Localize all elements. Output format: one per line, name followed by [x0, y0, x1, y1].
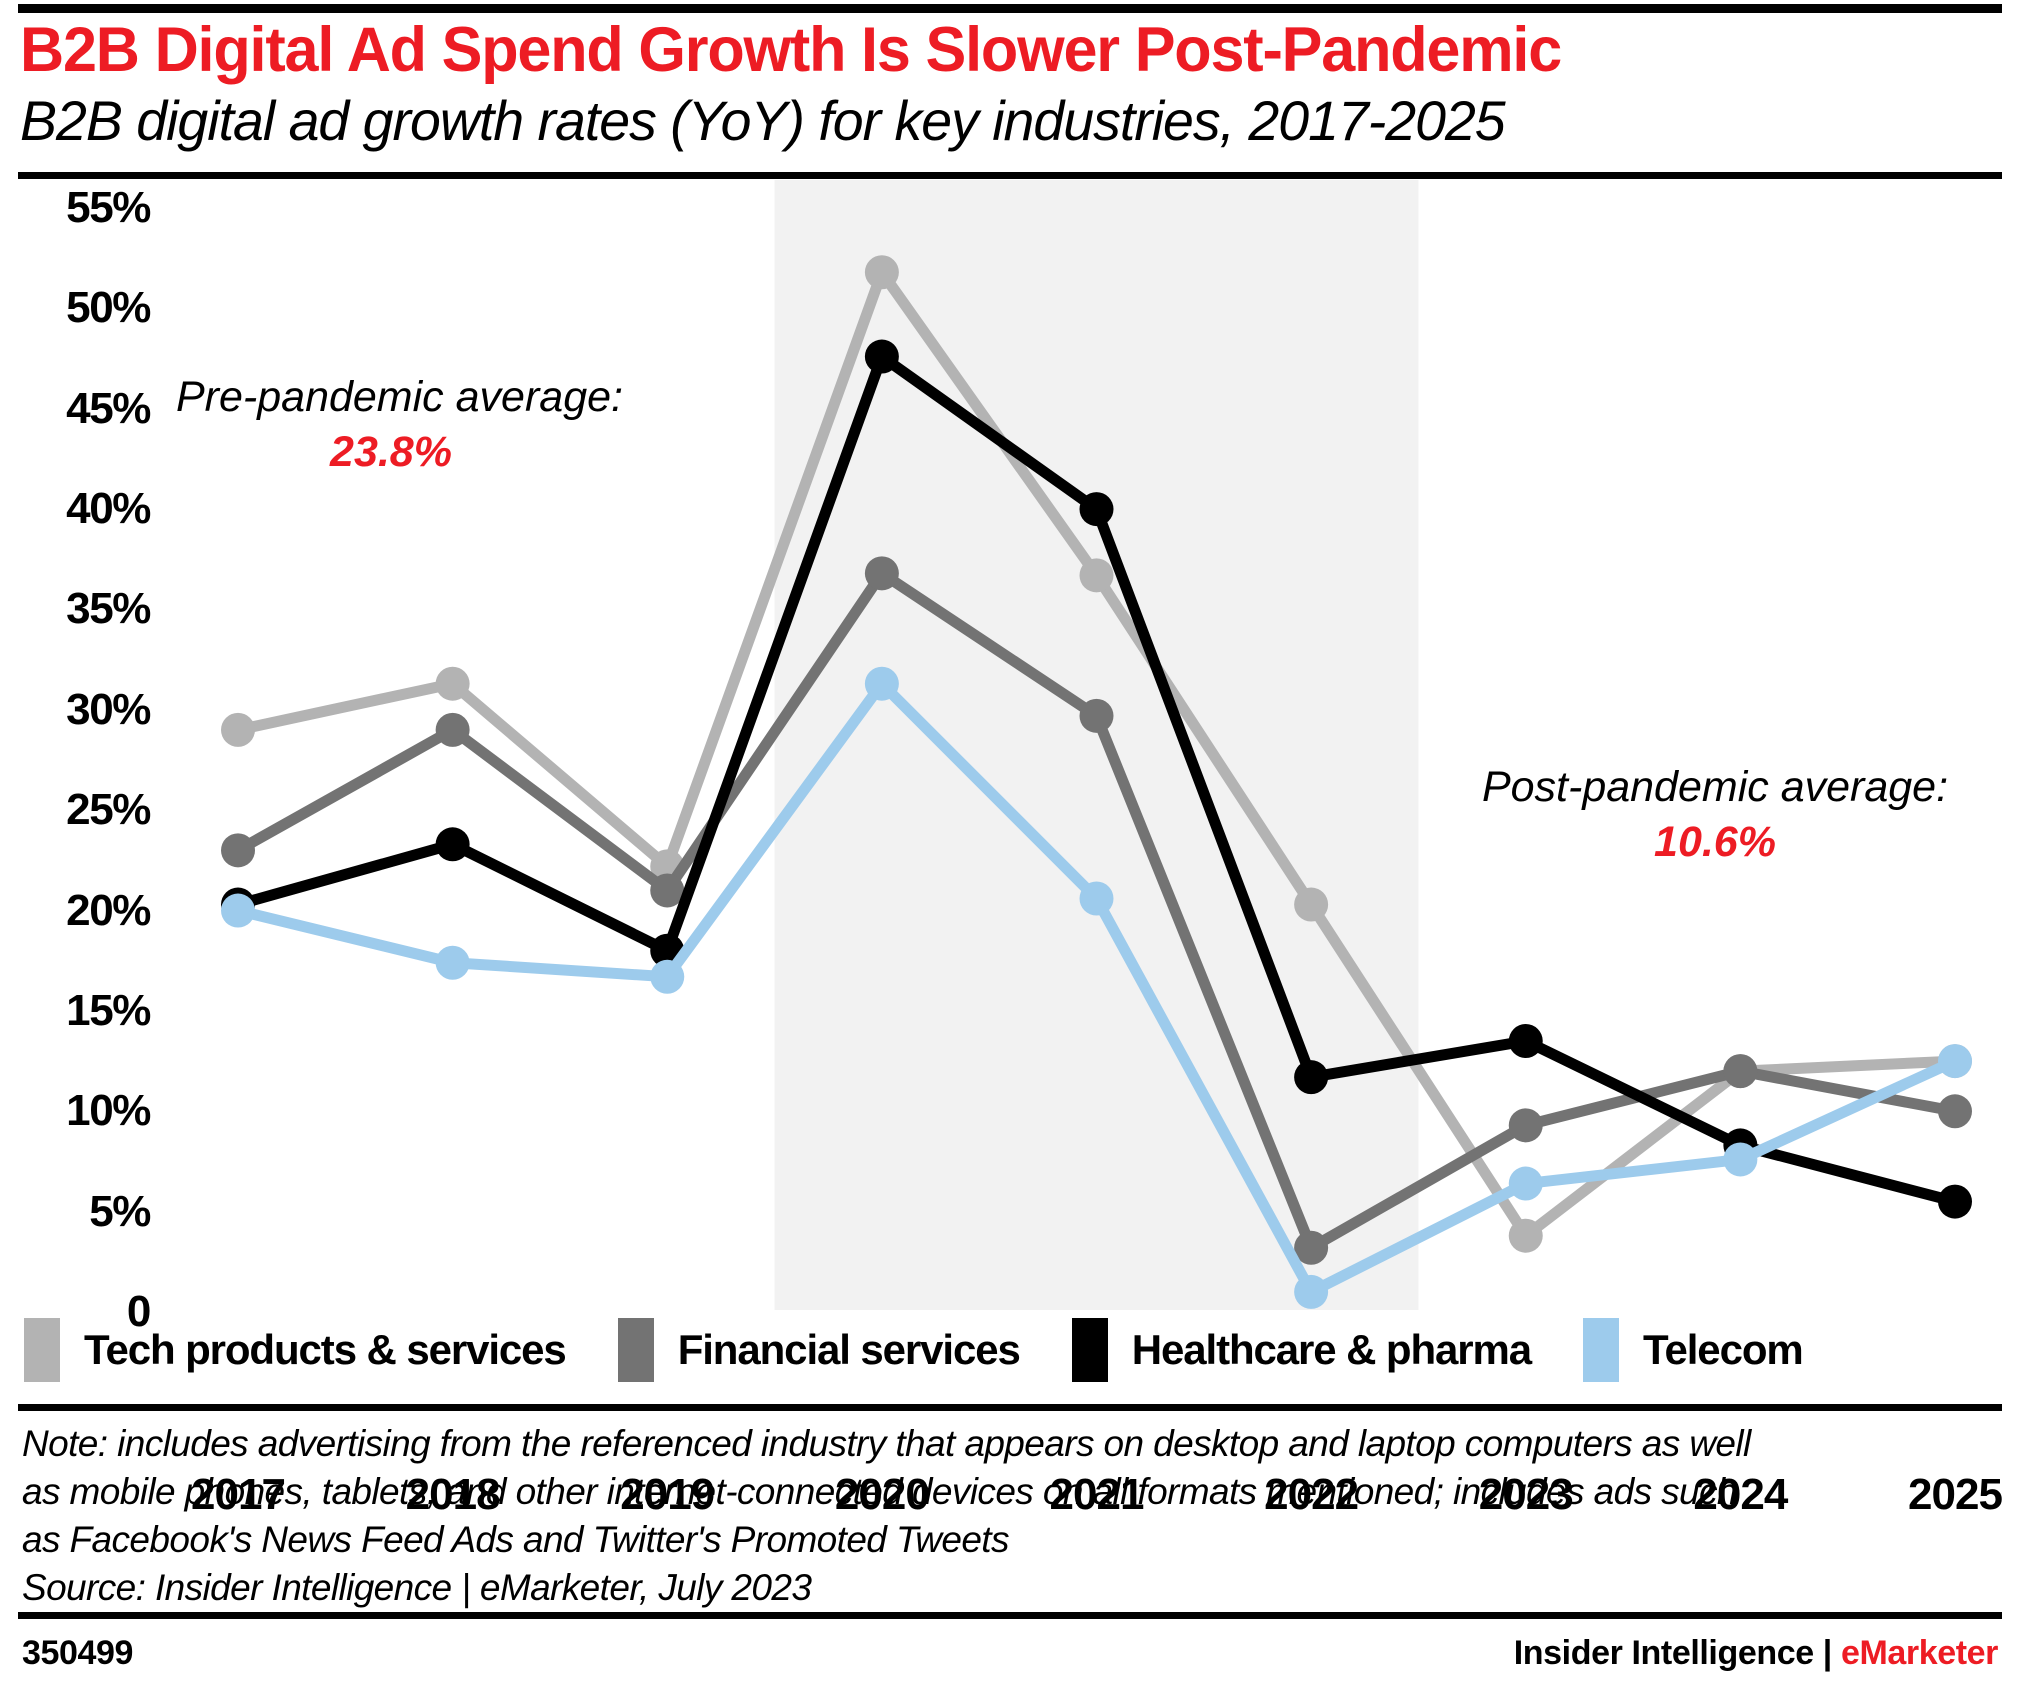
- title-divider: [18, 172, 2002, 179]
- note-line-2: as mobile phones, tablets, and other int…: [22, 1468, 1997, 1516]
- legend-item-label: Telecom: [1643, 1326, 1803, 1374]
- chart-id: 350499: [22, 1634, 133, 1673]
- data-point: [865, 556, 899, 590]
- legend-swatch-icon: [618, 1318, 654, 1382]
- note-line-1: Note: includes advertising from the refe…: [22, 1420, 1997, 1468]
- legend-swatch-icon: [1583, 1318, 1619, 1382]
- data-point: [650, 960, 684, 994]
- y-axis-tick-label: 45%: [0, 384, 150, 434]
- pre-pandemic-label: Pre-pandemic average:: [176, 373, 623, 421]
- chart-legend: Tech products & servicesFinancial servic…: [24, 1318, 1855, 1382]
- data-point: [1294, 1275, 1328, 1309]
- legend-item[interactable]: Telecom: [1583, 1318, 1803, 1382]
- pre-pandemic-value: 23.8%: [176, 425, 606, 480]
- y-axis-tick-label: 30%: [0, 685, 150, 735]
- y-axis-tick-label: 55%: [0, 183, 150, 233]
- data-point: [1080, 492, 1114, 526]
- brand-left: Insider Intelligence |: [1514, 1634, 1841, 1672]
- data-point: [1938, 1185, 1972, 1219]
- data-point: [1509, 1219, 1543, 1253]
- data-point: [1080, 699, 1114, 733]
- pre-pandemic-annotation: Pre-pandemic average: 23.8%: [176, 370, 606, 480]
- legend-item-label: Financial services: [678, 1326, 1020, 1374]
- data-point: [1723, 1142, 1757, 1176]
- data-point: [1294, 1060, 1328, 1094]
- legend-item[interactable]: Financial services: [618, 1318, 1020, 1382]
- page-subtitle: B2B digital ad growth rates (YoY) for ke…: [20, 88, 1990, 153]
- note-source: Source: Insider Intelligence | eMarketer…: [22, 1564, 1997, 1612]
- note-line-3: as Facebook's News Feed Ads and Twitter'…: [22, 1516, 1997, 1564]
- note-divider: [18, 1612, 2002, 1619]
- data-point: [221, 894, 255, 928]
- y-axis-tick-label: 10%: [0, 1086, 150, 1136]
- brand-mark: Insider Intelligence | eMarketer: [1514, 1634, 1998, 1673]
- post-pandemic-annotation: Post-pandemic average: 10.6%: [1455, 760, 1975, 870]
- data-point: [436, 827, 470, 861]
- legend-item[interactable]: Healthcare & pharma: [1072, 1318, 1531, 1382]
- data-point: [1080, 558, 1114, 592]
- y-axis-tick-label: 40%: [0, 484, 150, 534]
- y-axis-tick-label: 15%: [0, 986, 150, 1036]
- data-point: [865, 340, 899, 374]
- data-point: [221, 833, 255, 867]
- chart-plot-area: 55%50%45%40%35%30%25%20%15%10%5%0 201720…: [0, 180, 2020, 1310]
- post-pandemic-value: 10.6%: [1455, 815, 1975, 870]
- data-point: [1294, 888, 1328, 922]
- legend-item[interactable]: Tech products & services: [24, 1318, 566, 1382]
- y-axis-tick-label: 5%: [0, 1187, 150, 1237]
- data-point: [1509, 1108, 1543, 1142]
- legend-swatch-icon: [1072, 1318, 1108, 1382]
- post-pandemic-label: Post-pandemic average:: [1482, 763, 1948, 811]
- legend-item-label: Tech products & services: [84, 1326, 566, 1374]
- y-axis-tick-label: 20%: [0, 886, 150, 936]
- chart-svg: [0, 180, 2020, 1310]
- data-point: [1938, 1044, 1972, 1078]
- data-point: [436, 713, 470, 747]
- data-point: [1080, 882, 1114, 916]
- legend-swatch-icon: [24, 1318, 60, 1382]
- y-axis-tick-label: 35%: [0, 584, 150, 634]
- top-rule: [18, 4, 2002, 13]
- data-point: [1509, 1167, 1543, 1201]
- y-axis-tick-label: 50%: [0, 283, 150, 333]
- y-axis-tick-label: 25%: [0, 785, 150, 835]
- data-point: [436, 946, 470, 980]
- data-point: [436, 667, 470, 701]
- data-point: [1723, 1054, 1757, 1088]
- data-point: [221, 713, 255, 747]
- legend-item-label: Healthcare & pharma: [1132, 1326, 1531, 1374]
- data-point: [865, 255, 899, 289]
- page-title: B2B Digital Ad Spend Growth Is Slower Po…: [20, 14, 1950, 86]
- brand-right: eMarketer: [1841, 1634, 1998, 1672]
- data-point: [1509, 1024, 1543, 1058]
- data-point: [865, 667, 899, 701]
- legend-divider: [18, 1404, 2002, 1411]
- data-point: [1938, 1094, 1972, 1128]
- chart-note: Note: includes advertising from the refe…: [22, 1420, 1997, 1612]
